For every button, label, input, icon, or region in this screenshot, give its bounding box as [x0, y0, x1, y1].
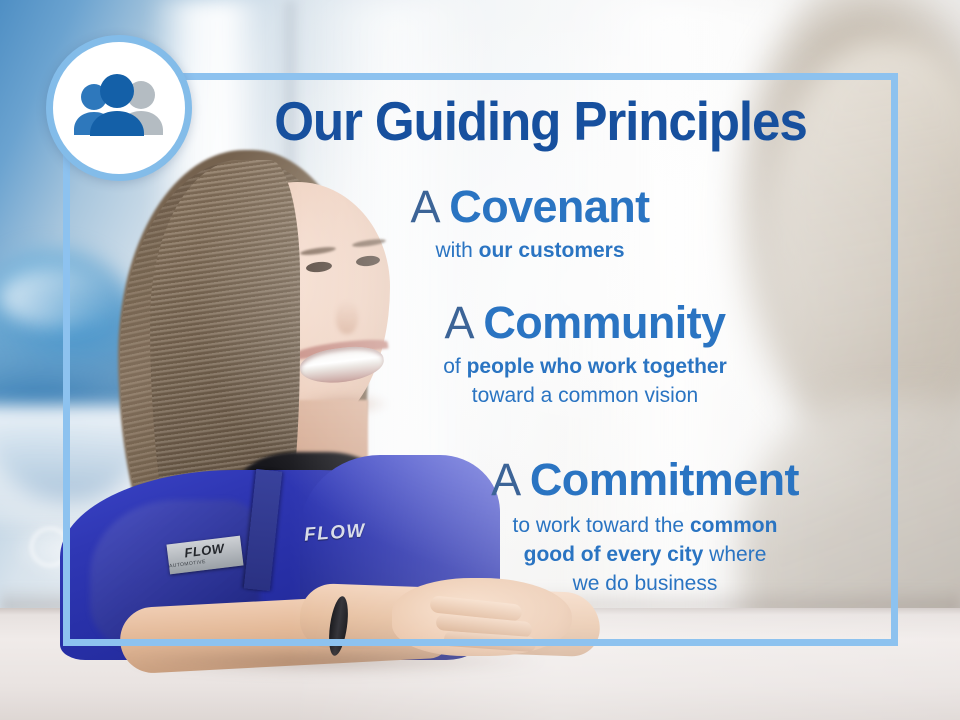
principle-subtitle: of people who work together toward a com… — [370, 352, 800, 410]
subtitle-emphasis: common — [690, 514, 778, 537]
principle-article: A — [491, 454, 530, 505]
subtitle-emphasis: people who work together — [467, 355, 727, 378]
principle-community: A Community of people who work together … — [370, 298, 800, 410]
principle-article: A — [445, 297, 484, 348]
subtitle-prefix: of — [443, 355, 466, 378]
principle-keyword: Commitment — [530, 454, 799, 505]
subtitle-emphasis: our customers — [479, 239, 625, 262]
arm-desk-shadow — [120, 648, 550, 674]
principle-heading: A Covenant — [330, 182, 730, 232]
subtitle-line: of people who work together — [370, 352, 800, 381]
subtitle-line: toward a common vision — [370, 381, 800, 410]
principle-article: A — [410, 181, 449, 232]
principle-subtitle: with our customers — [330, 236, 730, 265]
subtitle-suffix: where — [703, 543, 766, 566]
page-title: Our Guiding Principles — [34, 92, 927, 150]
principle-heading: A Commitment — [420, 455, 870, 505]
principle-keyword: Covenant — [449, 181, 649, 232]
subtitle-line: to work toward the common — [420, 511, 870, 540]
subtitle-emphasis: good of every city — [524, 543, 704, 566]
principle-commitment: A Commitment to work toward the common g… — [420, 455, 870, 598]
subtitle-line: we do business — [420, 569, 870, 598]
subtitle-prefix: to work toward the — [513, 514, 690, 537]
woman-nose — [336, 300, 358, 334]
principle-covenant: A Covenant with our customers — [330, 182, 730, 265]
principle-subtitle: to work toward the common good of every … — [420, 511, 870, 598]
subtitle-line: good of every city where — [420, 540, 870, 569]
guiding-principles-graphic: FLOW FLOW AUTOMOTIVE — [0, 0, 960, 720]
car-highlight — [0, 268, 120, 328]
subtitle-prefix: with — [435, 239, 478, 262]
principle-keyword: Community — [483, 297, 725, 348]
principle-heading: A Community — [370, 298, 800, 348]
